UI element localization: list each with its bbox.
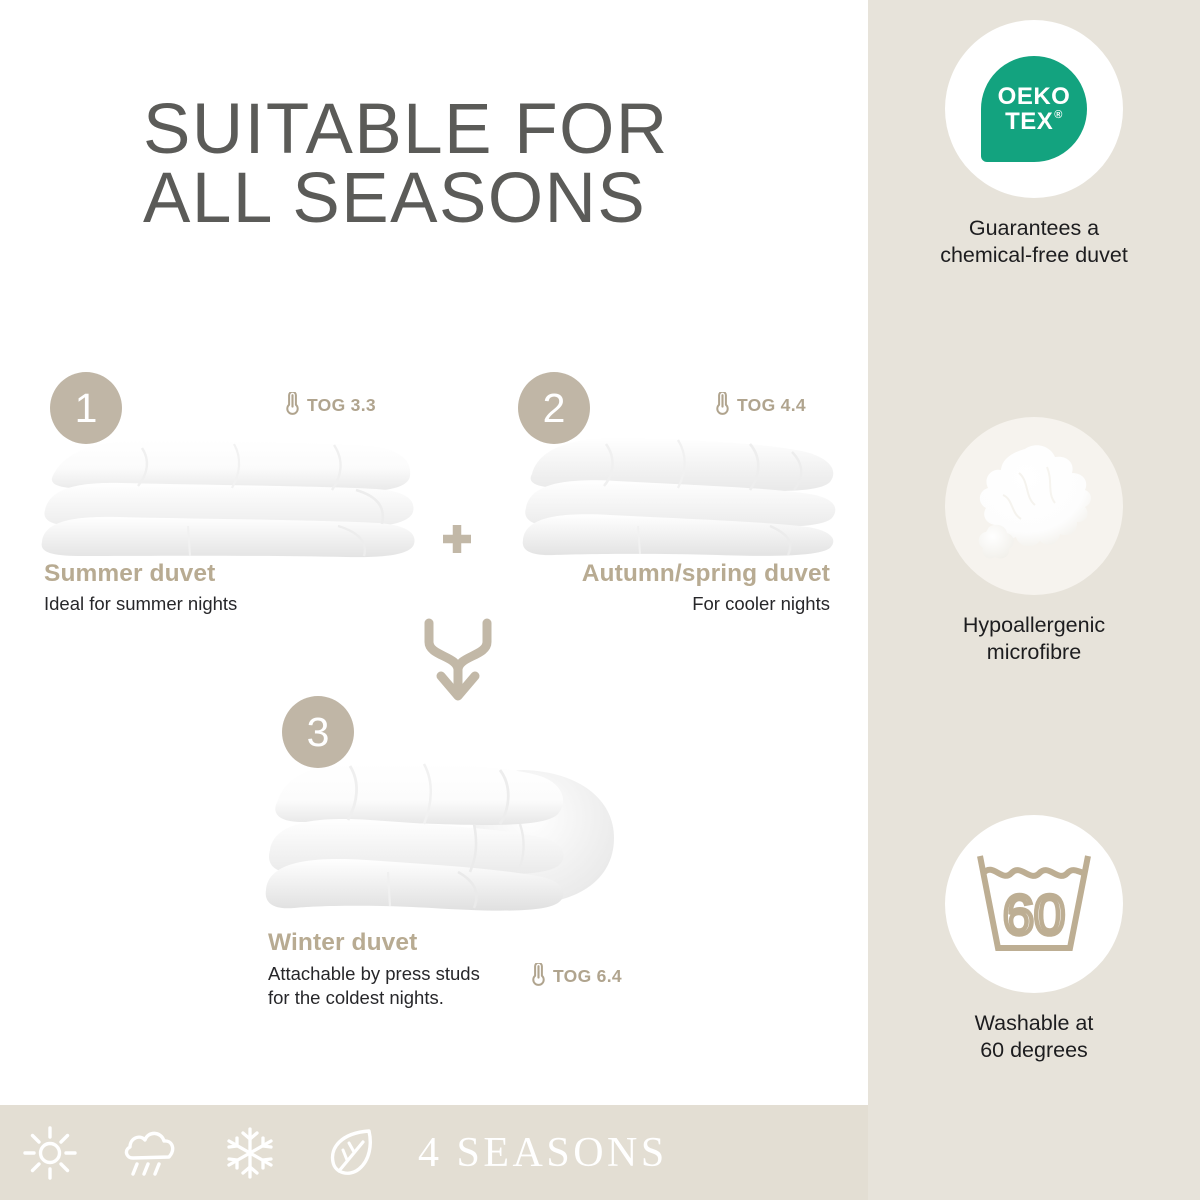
oeko-tex-logo: OEKO TEX ® — [981, 56, 1087, 162]
snowflake-icon — [200, 1126, 300, 1180]
thermometer-icon — [713, 392, 732, 419]
oeko-tex-badge: OEKO TEX ® — [945, 20, 1123, 198]
feature-washable-caption-line-1: Washable at — [868, 1010, 1200, 1037]
right-panel: OEKO TEX ® Guarantees a chemical-free du… — [868, 0, 1200, 1200]
product-2-subtitle: For cooler nights — [692, 592, 830, 616]
oeko-tex-logo-line-1: OEKO — [998, 84, 1071, 109]
thermometer-icon — [283, 392, 302, 419]
season-bar-label: 4 SEASONS — [418, 1129, 668, 1177]
product-3-subtitle: Attachable by press studs for the coldes… — [268, 962, 480, 1011]
left-panel: SUITABLE FOR ALL SEASONS 1 TOG 3.3 — [0, 0, 868, 1200]
tog-rating-1: TOG 3.3 — [283, 392, 376, 419]
product-3-title: Winter duvet — [268, 929, 417, 957]
feature-oeko-tex-caption-line-1: Guarantees a — [868, 215, 1200, 242]
merge-arrow-down-icon — [415, 616, 501, 713]
product-2-title: Autumn/spring duvet — [582, 560, 830, 588]
feature-microfibre-caption: Hypoallergenic microfibre — [868, 612, 1200, 667]
tog-rating-2-label: TOG 4.4 — [737, 395, 806, 416]
microfibre-badge — [945, 417, 1123, 595]
product-3-subtitle-line-2: for the coldest nights. — [268, 986, 480, 1010]
feature-washable: 60 Washable at 60 degrees — [868, 815, 1200, 1065]
tog-rating-2: TOG 4.4 — [713, 392, 806, 419]
step-badge-2: 2 — [518, 372, 590, 444]
page-title: SUITABLE FOR ALL SEASONS — [143, 96, 669, 234]
sun-icon — [0, 1126, 100, 1180]
folded-duvet-image-1 — [38, 432, 418, 560]
folded-duvet-image-3 — [262, 752, 620, 920]
step-badge-1: 1 — [50, 372, 122, 444]
page-title-line-2: ALL SEASONS — [143, 165, 669, 234]
feature-washable-caption: Washable at 60 degrees — [868, 1010, 1200, 1065]
step-badge-3-number: 3 — [307, 709, 330, 756]
thermometer-icon — [529, 963, 548, 990]
product-1-title: Summer duvet — [44, 560, 215, 588]
feature-microfibre-caption-line-2: microfibre — [868, 639, 1200, 666]
step-badge-1-number: 1 — [75, 385, 98, 432]
step-badge-3: 3 — [282, 696, 354, 768]
plus-icon — [440, 522, 474, 561]
oeko-tex-logo-text: TEX — [1005, 109, 1053, 134]
tog-rating-3: TOG 6.4 — [529, 963, 622, 990]
microfibre-cluster-image — [959, 429, 1109, 584]
step-badge-2-number: 2 — [543, 385, 566, 432]
tog-rating-3-label: TOG 6.4 — [553, 966, 622, 987]
page-title-line-1: SUITABLE FOR — [143, 96, 669, 165]
feature-washable-caption-line-2: 60 degrees — [868, 1037, 1200, 1064]
feature-oeko-tex-caption-line-2: chemical-free duvet — [868, 242, 1200, 269]
product-1-subtitle: Ideal for summer nights — [44, 592, 237, 616]
folded-duvet-image-2 — [520, 430, 840, 560]
wash-temperature-value: 60 — [1003, 883, 1065, 946]
feature-oeko-tex: OEKO TEX ® Guarantees a chemical-free du… — [868, 20, 1200, 270]
rain-cloud-icon — [100, 1126, 200, 1180]
leaf-icon — [300, 1126, 400, 1180]
feature-microfibre: Hypoallergenic microfibre — [868, 417, 1200, 667]
oeko-tex-logo-line-2: TEX ® — [1005, 109, 1063, 134]
registered-mark: ® — [1054, 110, 1063, 122]
product-3-subtitle-line-1: Attachable by press studs — [268, 962, 480, 986]
feature-microfibre-caption-line-1: Hypoallergenic — [868, 612, 1200, 639]
infographic-root: SUITABLE FOR ALL SEASONS 1 TOG 3.3 — [0, 0, 1200, 1200]
season-bar: 4 SEASONS — [0, 1105, 868, 1200]
wash-tub-60-icon: 60 — [970, 842, 1098, 967]
tog-rating-1-label: TOG 3.3 — [307, 395, 376, 416]
feature-oeko-tex-caption: Guarantees a chemical-free duvet — [868, 215, 1200, 270]
wash-badge: 60 — [945, 815, 1123, 993]
